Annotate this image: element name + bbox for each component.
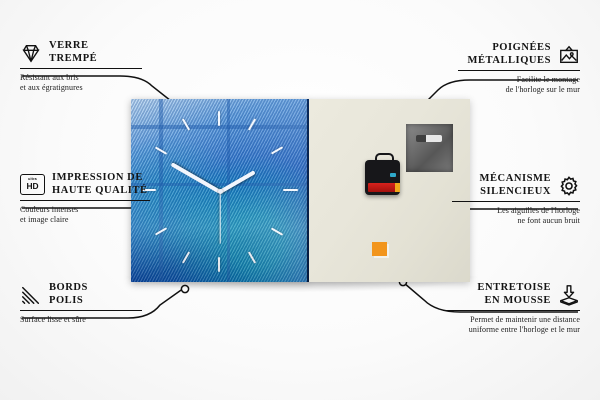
gear-icon bbox=[558, 175, 580, 197]
clock-tick bbox=[248, 251, 256, 263]
clock-tick bbox=[271, 227, 283, 235]
callout-poignees-metalliques: POIGNÉES MÉTALLIQUES Facilite le montage… bbox=[458, 42, 580, 95]
callout-rule bbox=[20, 200, 150, 201]
callout-verre-trempe: VERRE TREMPÉ Résistant aux bris et aux é… bbox=[20, 40, 142, 93]
callout-description: Permet de maintenir une distance uniform… bbox=[443, 315, 580, 335]
callout-rule bbox=[458, 70, 580, 71]
clock-mechanism bbox=[365, 160, 400, 195]
callout-title: BORDS POLIS bbox=[49, 282, 88, 307]
infographic-canvas: VERRE TREMPÉ Résistant aux bris et aux é… bbox=[0, 0, 600, 400]
battery bbox=[368, 183, 397, 192]
clock-hand-hour bbox=[219, 170, 256, 193]
polished-edge-icon bbox=[20, 284, 42, 306]
pattern-line bbox=[131, 125, 309, 129]
clock-hand-minute bbox=[171, 162, 221, 193]
pattern-line bbox=[131, 183, 309, 186]
callout-description: Résistant aux bris et aux égratignures bbox=[20, 73, 142, 93]
mechanism-detail bbox=[390, 173, 396, 177]
clock-center-hub bbox=[218, 189, 223, 194]
clock-tick bbox=[283, 189, 298, 191]
callout-entretoise-en-mousse: ENTRETOISE EN MOUSSE Permet de maintenir… bbox=[443, 282, 580, 335]
foam-spacer bbox=[372, 242, 387, 256]
callout-description: Facilite le montage de l'horloge sur le … bbox=[458, 75, 580, 95]
clock-tick bbox=[182, 251, 190, 263]
callout-title: MÉCANISME SILENCIEUX bbox=[480, 173, 551, 198]
hanger-slot bbox=[416, 135, 442, 142]
callout-rule bbox=[20, 310, 142, 311]
clock-hand-second bbox=[219, 192, 220, 244]
callout-title: IMPRESSION DE HAUTE QUALITÉ bbox=[52, 172, 148, 197]
clock-tick bbox=[271, 146, 283, 154]
callout-mecanisme-silencieux: MÉCANISME SILENCIEUX Les aiguilles de l'… bbox=[452, 173, 580, 226]
callout-header: MÉCANISME SILENCIEUX bbox=[452, 173, 580, 198]
down-arrow-pad-icon bbox=[558, 284, 580, 306]
callout-description: Les aiguilles de l'horloge ne font aucun… bbox=[452, 206, 580, 226]
callout-bords-polis: BORDS POLIS Surface lisse et sûre bbox=[20, 282, 142, 325]
product-image bbox=[131, 99, 470, 282]
ultra-hd-badge-main-label: HD bbox=[26, 182, 38, 190]
callout-header: ENTRETOISE EN MOUSSE bbox=[443, 282, 580, 307]
clock-tick bbox=[218, 257, 220, 272]
callout-header: VERRE TREMPÉ bbox=[20, 40, 142, 65]
callout-description: Surface lisse et sûre bbox=[20, 315, 142, 325]
metal-hanger-plate bbox=[406, 124, 453, 172]
picture-frame-hook-icon bbox=[558, 44, 580, 66]
clock-back-panel bbox=[309, 99, 470, 282]
callout-header: BORDS POLIS bbox=[20, 282, 142, 307]
callout-description: Couleurs intenses et image claire bbox=[20, 205, 150, 225]
callout-title: VERRE TREMPÉ bbox=[49, 40, 97, 65]
callout-rule bbox=[20, 68, 142, 69]
mechanism-hook bbox=[375, 153, 394, 164]
callout-impression-haute-qualite: ultra HD IMPRESSION DE HAUTE QUALITÉ Cou… bbox=[20, 172, 150, 225]
clock-front-panel bbox=[131, 99, 309, 282]
diamond-icon bbox=[20, 42, 42, 64]
callout-rule bbox=[443, 310, 580, 311]
clock-tick bbox=[218, 111, 220, 126]
callout-header: ultra HD IMPRESSION DE HAUTE QUALITÉ bbox=[20, 172, 150, 197]
callout-rule bbox=[452, 201, 580, 202]
callout-title: POIGNÉES MÉTALLIQUES bbox=[468, 42, 551, 67]
battery-terminal bbox=[395, 183, 400, 192]
callout-title: ENTRETOISE EN MOUSSE bbox=[477, 282, 551, 307]
callout-header: POIGNÉES MÉTALLIQUES bbox=[458, 42, 580, 67]
ultra-hd-badge-icon: ultra HD bbox=[20, 174, 45, 195]
